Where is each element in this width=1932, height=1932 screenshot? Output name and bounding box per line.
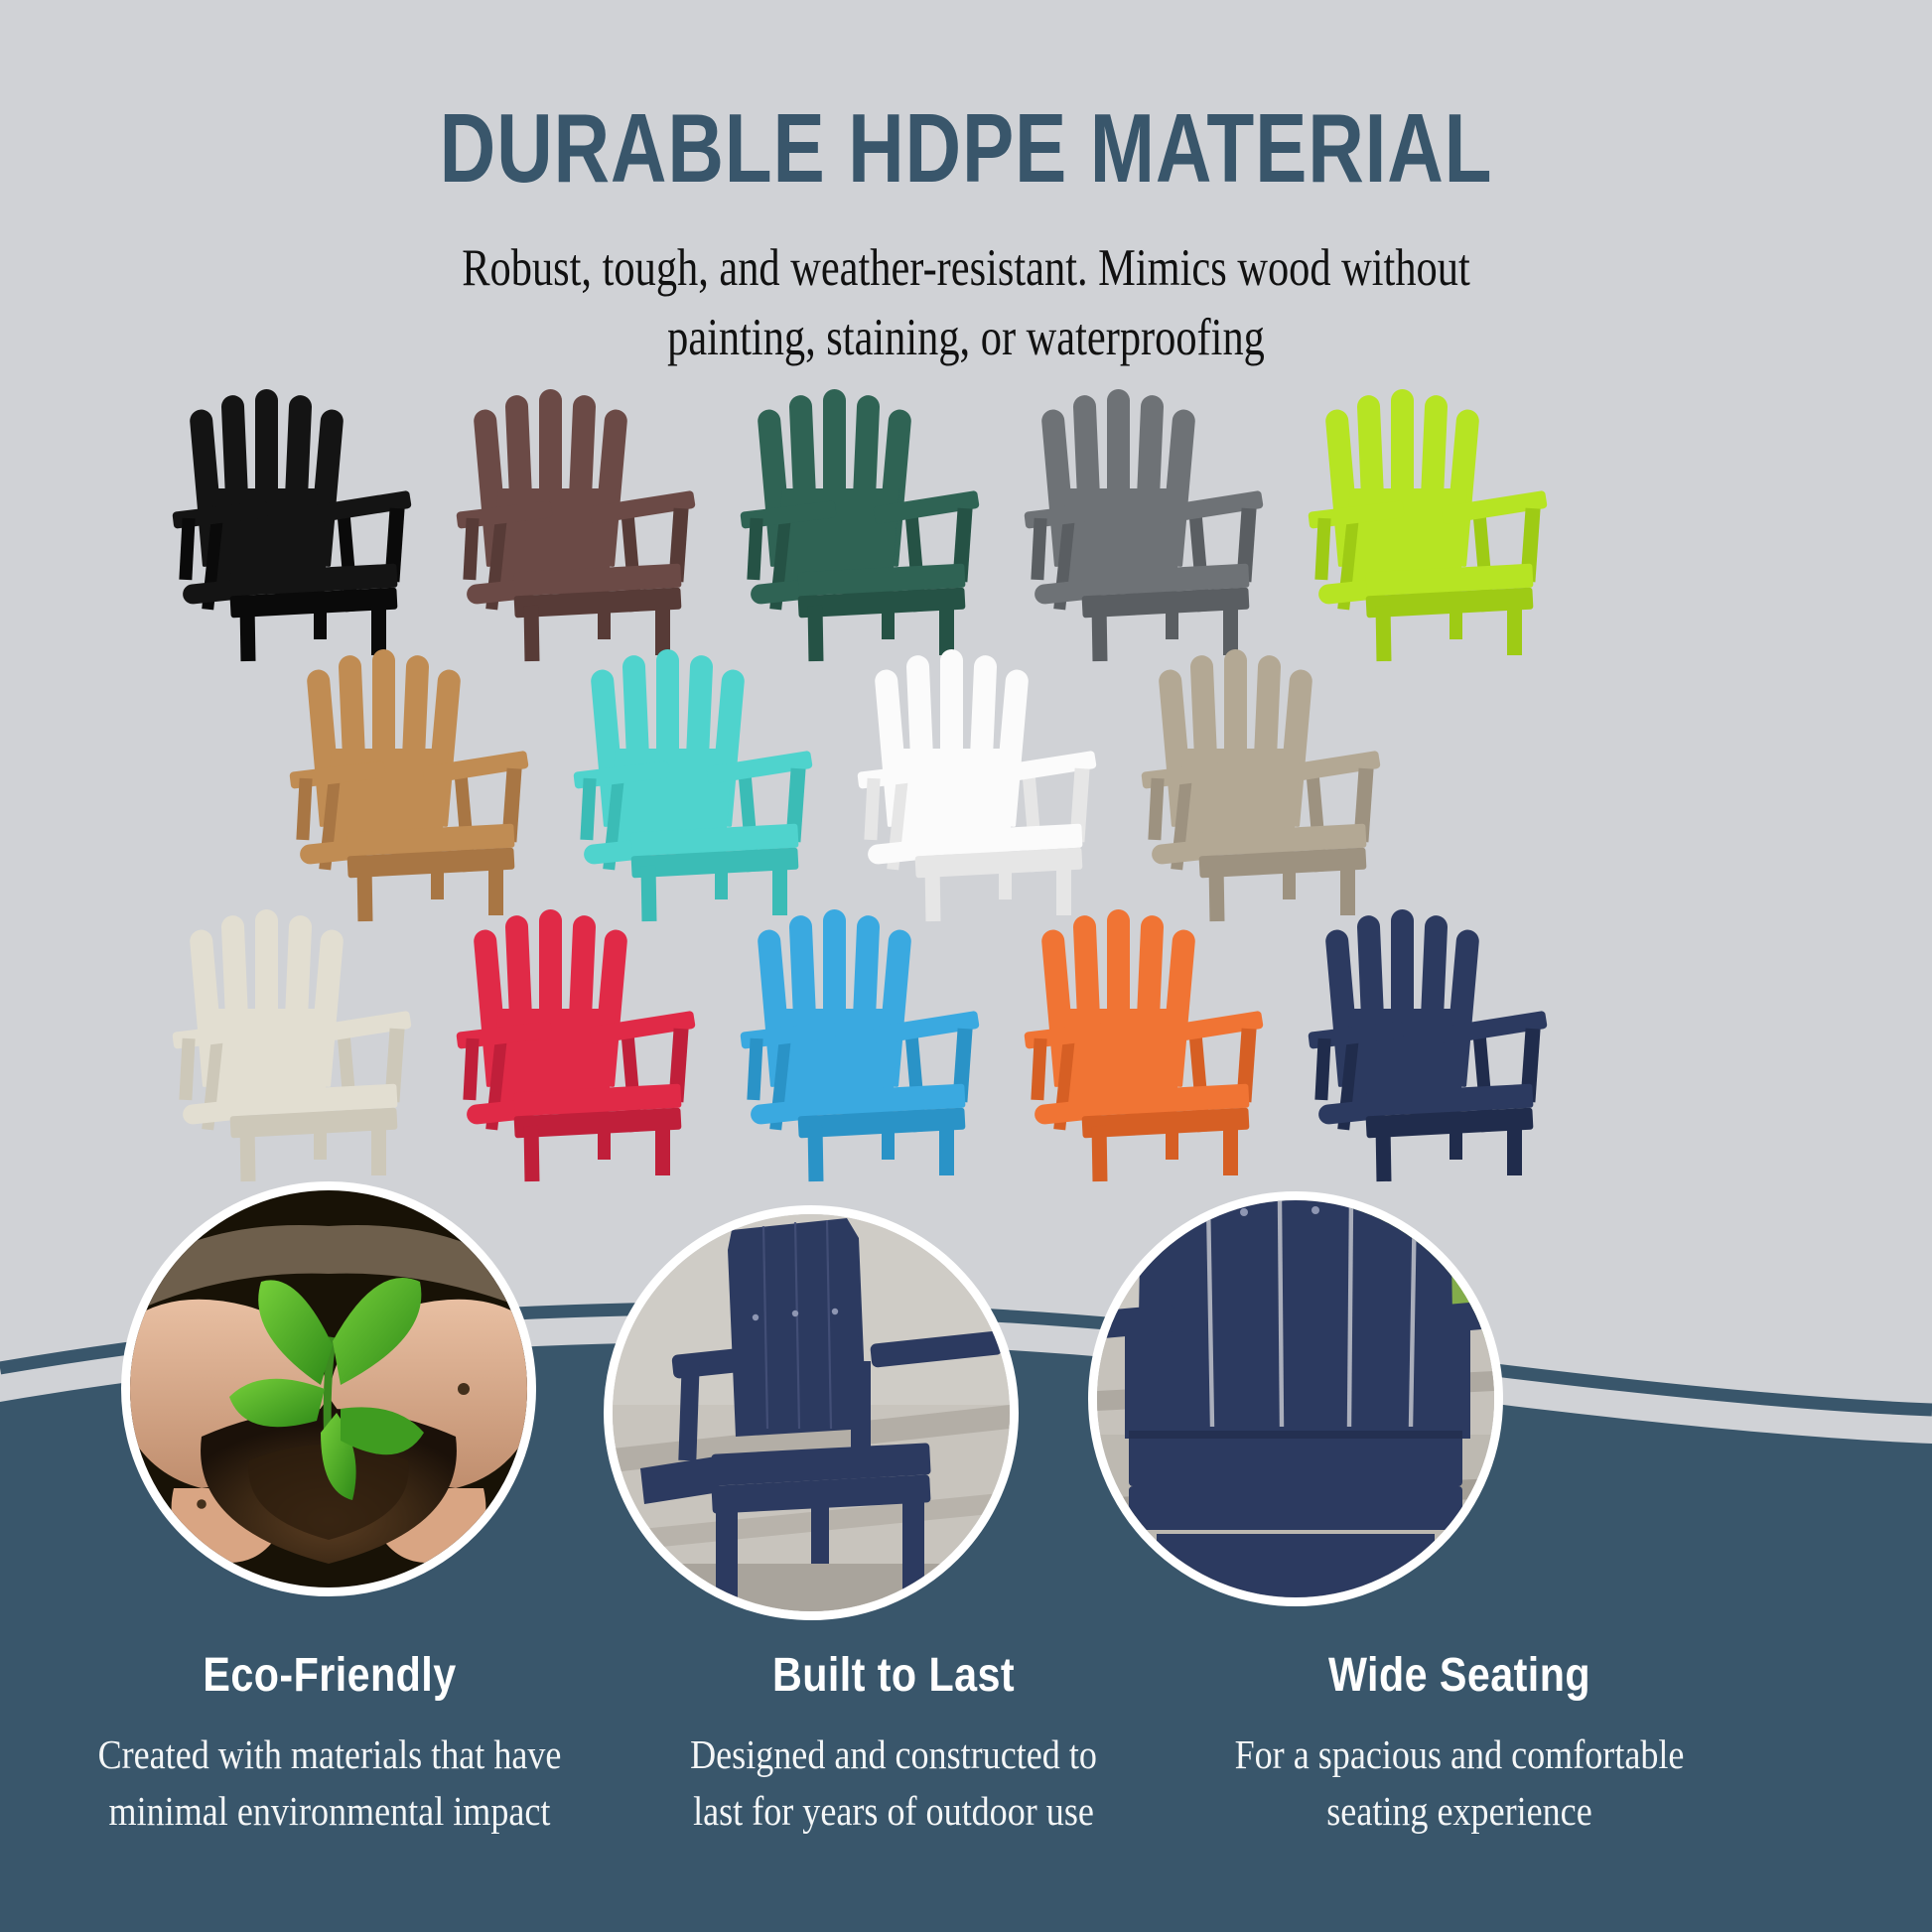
chair-arm-post-left: [463, 518, 479, 581]
feature-desc-line-2: minimal environmental impact: [85, 1783, 575, 1840]
chair-leg-back: [1283, 860, 1296, 899]
chair-leg-front-right: [939, 1124, 954, 1175]
feature-desc-line-1: Created with materials that have: [85, 1726, 575, 1783]
feature-title: Built to Last: [671, 1648, 1115, 1703]
chair-row-1: [167, 369, 1932, 635]
feature-desc-line-1: For a spacious and comfortable: [1215, 1726, 1705, 1783]
chair-arm-post-left: [296, 778, 312, 841]
chair-swatch-brown[interactable]: [451, 369, 709, 635]
chair-arm-post-left: [747, 1038, 762, 1101]
subtitle-line-1: Robust, tough, and weather-resistant. Mi…: [194, 234, 1739, 304]
chair-swatch-dark-green[interactable]: [735, 369, 993, 635]
chair-leg-front-right: [1507, 604, 1522, 655]
circle-seating: [1088, 1191, 1503, 1606]
chair-leg-back: [431, 860, 444, 899]
chair-leg-back: [314, 1120, 327, 1160]
chair-swatch-light-blue[interactable]: [735, 890, 993, 1156]
chair-arm-post-left: [463, 1038, 479, 1101]
chair-row-3: [167, 890, 1932, 1156]
chair-leg-back: [882, 1120, 895, 1160]
chair-arm-post-left: [179, 1038, 195, 1101]
adirondack-chair: [568, 629, 826, 896]
chair-leg-front-left: [240, 606, 256, 661]
chair-swatch-orange[interactable]: [1019, 890, 1277, 1156]
subtitle-line-2: painting, staining, or waterproofing: [194, 304, 1739, 373]
feature-desc-line-1: Designed and constructed to: [666, 1726, 1121, 1783]
adirondack-chair: [284, 629, 542, 896]
chair-arm-post-left: [864, 778, 880, 841]
chair-leg-back: [1449, 600, 1462, 639]
header: DURABLE HDPE MATERIAL Robust, tough, and…: [0, 0, 1932, 373]
seating-photo: [1097, 1200, 1494, 1597]
adirondack-chair: [1303, 369, 1561, 635]
feature-description: Created with materials that have minimal…: [85, 1726, 575, 1839]
chair-swatch-teak[interactable]: [284, 629, 542, 896]
adirondack-chair: [167, 369, 425, 635]
feature-title: Wide Seating: [1220, 1648, 1699, 1703]
chair-swatch-gray[interactable]: [1019, 369, 1277, 635]
chair-leg-front-left: [240, 1126, 256, 1181]
chair-swatch-turquoise[interactable]: [568, 629, 826, 896]
chair-arm-post-left: [1031, 518, 1046, 581]
chair-color-grid: [0, 369, 1932, 1156]
adirondack-chair: [1303, 890, 1561, 1156]
chair-arm-post-left: [1314, 518, 1330, 581]
page-title: DURABLE HDPE MATERIAL: [194, 99, 1739, 197]
chair-leg-front-left: [808, 1126, 824, 1181]
features-row: Eco-Friendly Created with materials that…: [0, 1648, 1932, 1839]
chair-leg-front-right: [1507, 1124, 1522, 1175]
adirondack-chair: [735, 890, 993, 1156]
chair-arm-post-left: [580, 778, 596, 841]
chair-leg-front-left: [1092, 1126, 1108, 1181]
chair-row-2: [284, 629, 1932, 896]
eco-photo: [130, 1190, 527, 1587]
feature-title: Eco-Friendly: [90, 1648, 569, 1703]
durable-photo: [613, 1214, 1010, 1611]
chair-arm-post-left: [1031, 1038, 1046, 1101]
chair-swatch-red[interactable]: [451, 890, 709, 1156]
chair-arm-post-left: [747, 518, 762, 581]
chair-leg-back: [715, 860, 728, 899]
chair-swatch-lime-green[interactable]: [1303, 369, 1561, 635]
chair-swatch-black[interactable]: [167, 369, 425, 635]
chair-arm-post-left: [1148, 778, 1164, 841]
feature-wide-seating: Wide Seating For a spacious and comforta…: [1181, 1648, 1737, 1839]
chair-leg-front-right: [371, 1124, 386, 1175]
feature-desc-line-2: last for years of outdoor use: [666, 1783, 1121, 1840]
chair-swatch-navy-blue[interactable]: [1303, 890, 1561, 1156]
chair-leg-front-right: [1223, 1124, 1238, 1175]
chair-leg-front-right: [655, 1124, 670, 1175]
chair-swatch-ivory[interactable]: [167, 890, 425, 1156]
chair-leg-back: [1449, 1120, 1462, 1160]
adirondack-chair: [735, 369, 993, 635]
circle-durable: [604, 1205, 1019, 1620]
circle-eco: [121, 1181, 536, 1596]
feature-description: Designed and constructed to last for yea…: [666, 1726, 1121, 1839]
feature-description: For a spacious and comfortable seating e…: [1215, 1726, 1705, 1839]
feature-desc-line-2: seating experience: [1215, 1783, 1705, 1840]
page-subtitle: Robust, tough, and weather-resistant. Mi…: [194, 234, 1739, 373]
adirondack-chair: [167, 890, 425, 1156]
chair-arm-post-left: [1314, 1038, 1330, 1101]
feature-eco-friendly: Eco-Friendly Created with materials that…: [52, 1648, 608, 1839]
chair-leg-front-left: [1376, 1126, 1392, 1181]
chair-arm-post-left: [179, 518, 195, 581]
chair-leg-back: [1166, 1120, 1178, 1160]
adirondack-chair: [1019, 890, 1277, 1156]
chair-leg-back: [999, 860, 1012, 899]
chair-swatch-taupe[interactable]: [1136, 629, 1394, 896]
chair-swatch-white[interactable]: [852, 629, 1110, 896]
chair-leg-back: [598, 1120, 611, 1160]
adirondack-chair: [1136, 629, 1394, 896]
adirondack-chair: [1019, 369, 1277, 635]
chair-leg-front-left: [524, 1126, 540, 1181]
adirondack-chair: [451, 369, 709, 635]
feature-built-to-last: Built to Last Designed and constructed t…: [635, 1648, 1152, 1839]
adirondack-chair: [451, 890, 709, 1156]
adirondack-chair: [852, 629, 1110, 896]
